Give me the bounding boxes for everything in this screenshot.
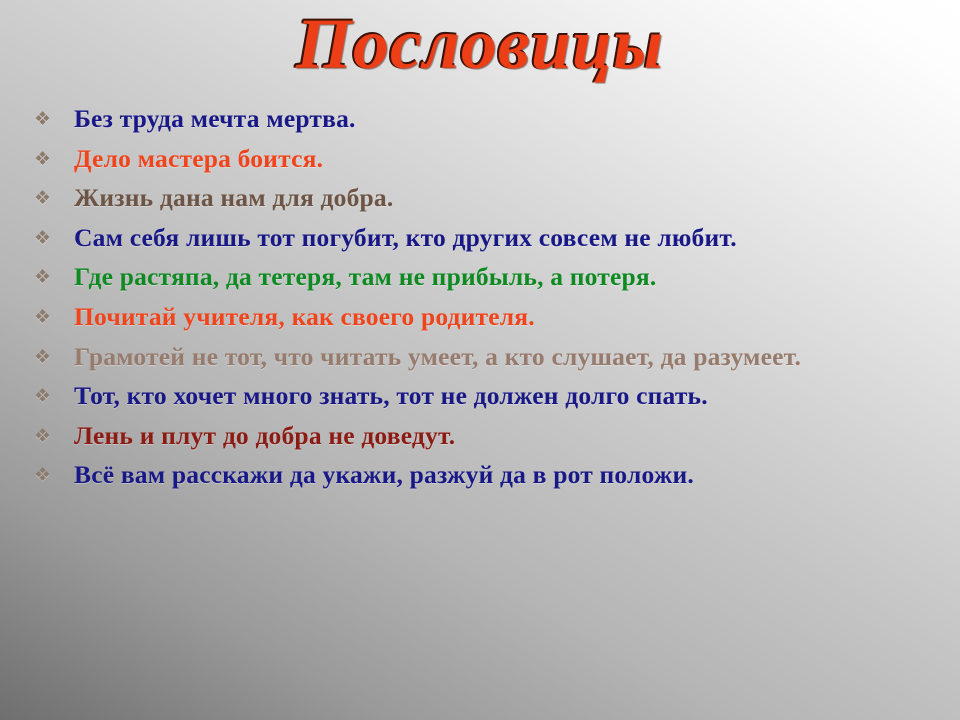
diamond-bullet-icon: ❖ bbox=[34, 460, 74, 485]
diamond-bullet-icon: ❖ bbox=[34, 302, 74, 327]
diamond-bullet-icon: ❖ bbox=[34, 381, 74, 406]
list-item: ❖Лень и плут до добра не доведут. bbox=[34, 421, 934, 452]
proverb-text: Всё вам расскажи да укажи, разжуй да в р… bbox=[74, 460, 934, 491]
proverb-text: Сам себя лишь тот погубит, кто других со… bbox=[74, 223, 934, 254]
diamond-bullet-icon: ❖ bbox=[34, 144, 74, 169]
list-item: ❖Всё вам расскажи да укажи, разжуй да в … bbox=[34, 460, 934, 491]
presentation-slide: Пословицы ❖Без труда мечта мертва.❖Дело … bbox=[0, 0, 960, 720]
diamond-bullet-icon: ❖ bbox=[34, 183, 74, 208]
proverb-text: Где растяпа, да тетеря, там не прибыль, … bbox=[74, 262, 934, 293]
proverb-text: Грамотей не тот, что читать умеет, а кто… bbox=[74, 342, 934, 373]
diamond-bullet-icon: ❖ bbox=[34, 262, 74, 287]
list-item: ❖Жизнь дана нам для добра. bbox=[34, 183, 934, 214]
proverb-text: Дело мастера боится. bbox=[74, 144, 934, 175]
proverb-text: Лень и плут до добра не доведут. bbox=[74, 421, 934, 452]
title-area: Пословицы bbox=[0, 6, 960, 84]
list-item: ❖Почитай учителя, как своего родителя. bbox=[34, 302, 934, 333]
proverb-text: Жизнь дана нам для добра. bbox=[74, 183, 934, 214]
diamond-bullet-icon: ❖ bbox=[34, 342, 74, 367]
list-item: ❖Тот, кто хочет много знать, тот не долж… bbox=[34, 381, 934, 412]
proverb-text: Почитай учителя, как своего родителя. bbox=[74, 302, 934, 333]
proverb-text: Без труда мечта мертва. bbox=[74, 104, 934, 135]
list-item: ❖Сам себя лишь тот погубит, кто других с… bbox=[34, 223, 934, 254]
list-item: ❖Где растяпа, да тетеря, там не прибыль,… bbox=[34, 262, 934, 293]
diamond-bullet-icon: ❖ bbox=[34, 223, 74, 248]
proverb-text: Тот, кто хочет много знать, тот не долже… bbox=[74, 381, 934, 412]
list-item: ❖Без труда мечта мертва. bbox=[34, 104, 934, 135]
list-item: ❖Грамотей не тот, что читать умеет, а кт… bbox=[34, 342, 934, 373]
diamond-bullet-icon: ❖ bbox=[34, 104, 74, 129]
proverb-list: ❖Без труда мечта мертва.❖Дело мастера бо… bbox=[34, 104, 934, 500]
diamond-bullet-icon: ❖ bbox=[34, 421, 74, 446]
page-title: Пословицы bbox=[296, 6, 664, 84]
list-item: ❖Дело мастера боится. bbox=[34, 144, 934, 175]
